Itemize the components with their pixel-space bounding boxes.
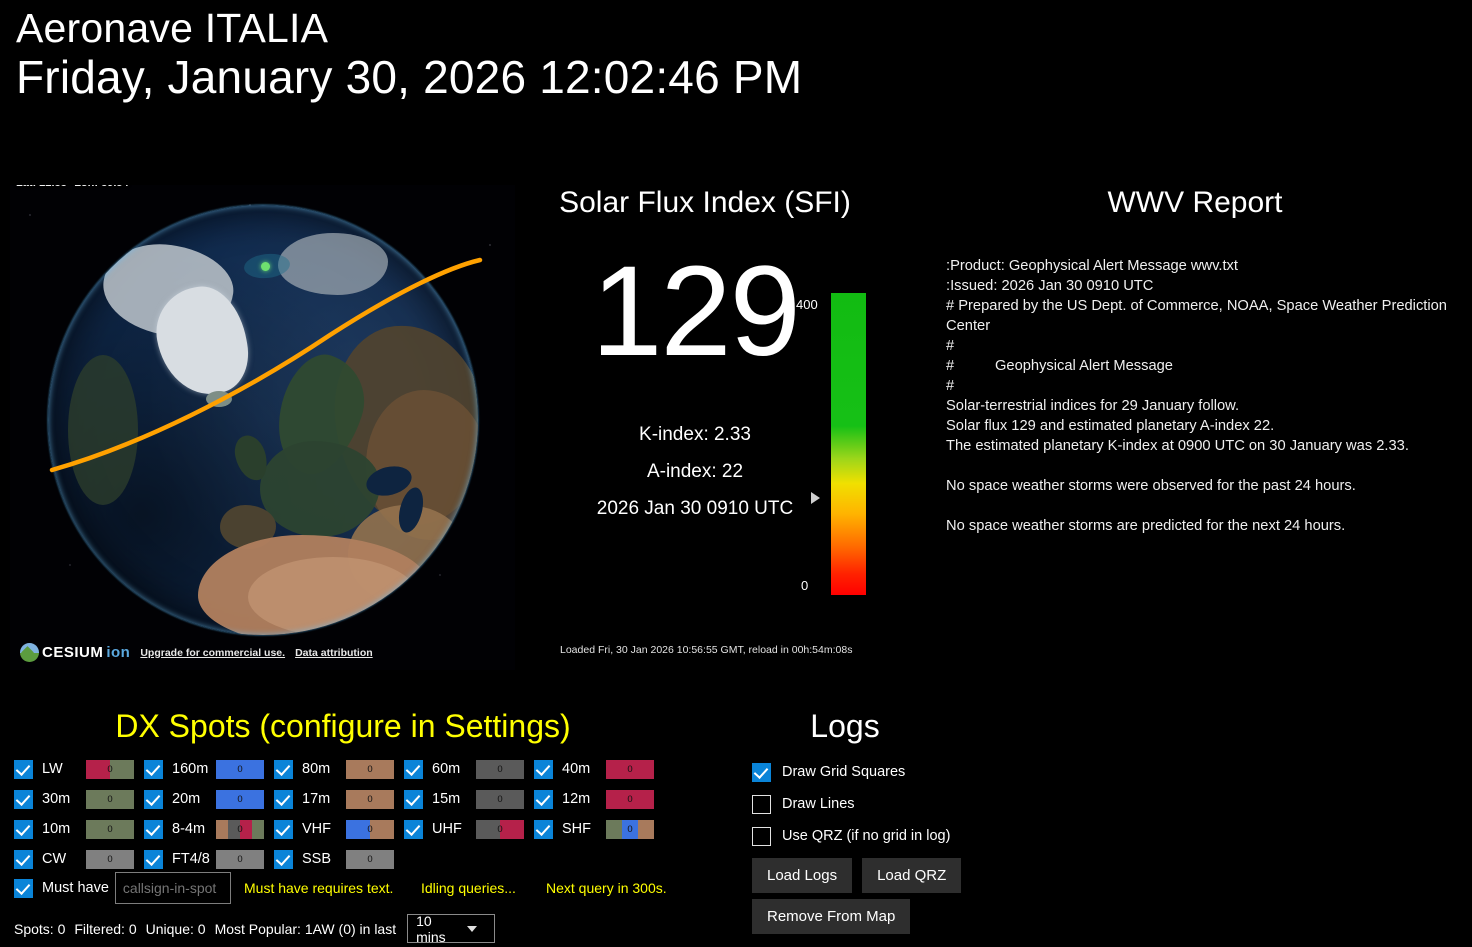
dx-band-row: CW0FT4/80SSB0 (14, 844, 684, 874)
band-count-value: 0 (237, 824, 242, 835)
loaded-status: Loaded Fri, 30 Jan 2026 10:56:55 GMT, re… (560, 644, 852, 656)
dx-band-cell: 30m0 (14, 790, 144, 809)
band-label: SHF (562, 821, 606, 837)
band-checkbox-uhf[interactable] (404, 820, 423, 839)
must-have-checkbox[interactable] (14, 879, 33, 898)
stat-most-popular: Most Popular: 1AW (0) in last (215, 921, 397, 937)
dx-band-cell: SSB0 (274, 850, 404, 869)
band-count-value: 0 (367, 824, 372, 835)
dx-band-row: LW0160m080m060m040m0 (14, 754, 684, 784)
remove-from-map-button[interactable]: Remove From Map (752, 899, 910, 934)
band-count-swatch[interactable]: 0 (346, 820, 394, 839)
band-label: FT4/8 (172, 851, 216, 867)
lat-lon-readout: Lat: 22.33° Lon: 39.54° (16, 185, 133, 189)
globe-viewer[interactable]: Lat: 22.33° Lon: 39.54° CESIUM ion Upgra… (10, 185, 515, 670)
log-option-label: Draw Lines (782, 796, 855, 812)
band-count-swatch[interactable]: 0 (86, 790, 134, 809)
band-checkbox-80m[interactable] (274, 760, 293, 779)
band-label: 20m (172, 791, 216, 807)
band-checkbox-12m[interactable] (534, 790, 553, 809)
gauge-min-label: 0 (801, 578, 808, 593)
band-checkbox-40m[interactable] (534, 760, 553, 779)
dx-band-cell: 15m0 (404, 790, 534, 809)
load-qrz-button[interactable]: Load QRZ (862, 858, 961, 893)
dx-band-cell: 8-4m0 (144, 820, 274, 839)
band-count-value: 0 (627, 764, 632, 775)
dx-band-cell: SHF0 (534, 820, 664, 839)
upgrade-commercial-link[interactable]: Upgrade for commercial use. (140, 647, 285, 659)
band-count-swatch[interactable]: 0 (216, 850, 264, 869)
band-checkbox-shf[interactable] (534, 820, 553, 839)
band-label: LW (42, 761, 86, 777)
log-option-checkbox-1[interactable] (752, 795, 771, 814)
band-checkbox-ft4-8[interactable] (144, 850, 163, 869)
data-attribution-link[interactable]: Data attribution (295, 647, 373, 659)
band-count-swatch[interactable]: 0 (216, 820, 264, 839)
logs-button-row-2: Remove From Map (752, 899, 910, 934)
app-title: Aeronave ITALIA (16, 6, 802, 50)
chevron-down-icon (467, 926, 477, 932)
must-have-input[interactable] (115, 872, 231, 904)
cesium-logo: CESIUM ion (20, 643, 130, 662)
header: Aeronave ITALIA Friday, January 30, 2026… (16, 6, 802, 105)
dx-band-grid: LW0160m080m060m040m030m020m017m015m012m0… (14, 754, 684, 874)
band-checkbox-lw[interactable] (14, 760, 33, 779)
wwv-panel-title: WWV Report (940, 186, 1450, 220)
cesium-wordmark: CESIUM (42, 644, 103, 661)
band-checkbox-160m[interactable] (144, 760, 163, 779)
stat-filtered: Filtered: 0 (74, 921, 136, 937)
logs-button-row: Load Logs Load QRZ (752, 858, 961, 893)
stat-unique: Unique: 0 (146, 921, 206, 937)
log-option-checkbox-0[interactable] (752, 763, 771, 782)
band-label: VHF (302, 821, 346, 837)
band-count-value: 0 (237, 764, 242, 775)
cesium-credit: CESIUM ion Upgrade for commercial use. D… (20, 643, 373, 662)
dx-band-cell: 60m0 (404, 760, 534, 779)
load-logs-button[interactable]: Load Logs (752, 858, 852, 893)
band-label: 17m (302, 791, 346, 807)
band-label: 10m (42, 821, 86, 837)
band-checkbox-vhf[interactable] (274, 820, 293, 839)
band-count-value: 0 (367, 794, 372, 805)
band-label: 160m (172, 761, 216, 777)
band-label: 8-4m (172, 821, 216, 837)
band-count-swatch[interactable]: 0 (606, 760, 654, 779)
log-option-label: Draw Grid Squares (782, 764, 905, 780)
gauge-pointer-icon (811, 492, 820, 504)
sfi-gauge-bar (831, 293, 866, 595)
band-count-value: 0 (107, 794, 112, 805)
band-count-swatch[interactable]: 0 (86, 820, 134, 839)
sfi-value: 129 (540, 248, 850, 376)
band-checkbox-ssb[interactable] (274, 850, 293, 869)
band-color-segment (606, 820, 622, 839)
band-checkbox-10m[interactable] (14, 820, 33, 839)
band-color-segment (500, 820, 524, 839)
band-label: SSB (302, 851, 346, 867)
band-color-segment (252, 820, 264, 839)
band-count-swatch[interactable]: 0 (476, 760, 524, 779)
k-index-readout: K-index: 2.33 (540, 424, 850, 446)
band-color-segment (216, 820, 228, 839)
band-count-swatch[interactable]: 0 (476, 820, 524, 839)
band-count-swatch[interactable]: 0 (476, 790, 524, 809)
sfi-panel-title: Solar Flux Index (SFI) (540, 186, 870, 220)
dx-band-row: 30m020m017m015m012m0 (14, 784, 684, 814)
a-index-readout: A-index: 22 (540, 461, 850, 483)
log-option-row: Draw Lines (752, 788, 950, 820)
band-count-swatch[interactable]: 0 (606, 820, 654, 839)
dx-band-cell: 20m0 (144, 790, 274, 809)
atmosphere-glow (48, 205, 478, 635)
dx-band-cell: LW0 (14, 760, 144, 779)
log-option-label: Use QRZ (if no grid in log) (782, 828, 950, 844)
band-count-swatch[interactable]: 0 (346, 760, 394, 779)
band-checkbox-15m[interactable] (404, 790, 423, 809)
band-checkbox-20m[interactable] (144, 790, 163, 809)
cesium-ion-label: ion (106, 644, 130, 661)
dx-band-cell: 17m0 (274, 790, 404, 809)
dx-band-cell: FT4/80 (144, 850, 274, 869)
wwv-report-text: :Product: Geophysical Alert Message wwv.… (946, 256, 1458, 536)
dx-band-cell: CW0 (14, 850, 144, 869)
band-label: 60m (432, 761, 476, 777)
interval-select-value: 10 mins (416, 913, 458, 945)
band-count-value: 0 (237, 854, 242, 865)
query-status: Idling queries... (421, 880, 516, 896)
stat-spots: Spots: 0 (14, 921, 65, 937)
band-count-swatch[interactable]: 0 (216, 790, 264, 809)
log-option-checkbox-2[interactable] (752, 827, 771, 846)
band-color-segment (638, 820, 654, 839)
must-have-label: Must have (42, 880, 109, 896)
dx-band-cell: 12m0 (534, 790, 664, 809)
band-label: 40m (562, 761, 606, 777)
band-count-value: 0 (237, 794, 242, 805)
band-count-value: 0 (497, 824, 502, 835)
band-color-segment (110, 760, 134, 779)
band-count-swatch[interactable]: 0 (216, 760, 264, 779)
band-count-swatch[interactable]: 0 (346, 790, 394, 809)
must-have-warning: Must have requires text. (244, 880, 393, 896)
band-count-value: 0 (107, 824, 112, 835)
band-count-value: 0 (107, 764, 112, 775)
band-count-swatch[interactable]: 0 (606, 790, 654, 809)
logs-options-list: Draw Grid SquaresDraw LinesUse QRZ (if n… (752, 756, 950, 852)
band-count-swatch[interactable]: 0 (86, 760, 134, 779)
dx-band-cell: UHF0 (404, 820, 534, 839)
current-datetime: Friday, January 30, 2026 12:02:46 PM (16, 50, 802, 104)
sfi-timestamp: 2026 Jan 30 0910 UTC (540, 498, 850, 520)
dx-band-cell: 160m0 (144, 760, 274, 779)
band-label: 12m (562, 791, 606, 807)
band-checkbox-cw[interactable] (14, 850, 33, 869)
dx-band-cell: 80m0 (274, 760, 404, 779)
gauge-max-label: 400 (796, 297, 818, 312)
dx-band-row: 10m08-4m0VHF0UHF0SHF0 (14, 814, 684, 844)
dx-band-cell: 40m0 (534, 760, 664, 779)
log-option-row: Use QRZ (if no grid in log) (752, 820, 950, 852)
band-label: 80m (302, 761, 346, 777)
log-option-row: Draw Grid Squares (752, 756, 950, 788)
band-label: UHF (432, 821, 476, 837)
next-query-countdown: Next query in 300s. (546, 880, 667, 896)
band-count-value: 0 (367, 764, 372, 775)
band-checkbox-17m[interactable] (274, 790, 293, 809)
band-count-value: 0 (627, 824, 632, 835)
app-root: Aeronave ITALIA Friday, January 30, 2026… (0, 0, 1472, 947)
must-have-row: Must have (14, 872, 231, 904)
dx-band-cell: 10m0 (14, 820, 144, 839)
band-checkbox-30m[interactable] (14, 790, 33, 809)
earth-sphere (48, 205, 478, 635)
band-checkbox-8-4m[interactable] (144, 820, 163, 839)
dx-band-cell: VHF0 (274, 820, 404, 839)
band-label: 15m (432, 791, 476, 807)
band-label: 30m (42, 791, 86, 807)
band-label: CW (42, 851, 86, 867)
cesium-mark-icon (20, 643, 39, 662)
dx-spots-title: DX Spots (configure in Settings) (0, 708, 686, 745)
band-count-value: 0 (367, 854, 372, 865)
band-count-swatch[interactable]: 0 (346, 850, 394, 869)
logs-panel-title: Logs (700, 708, 990, 745)
band-count-value: 0 (497, 764, 502, 775)
band-checkbox-60m[interactable] (404, 760, 423, 779)
band-count-value: 0 (107, 854, 112, 865)
band-count-value: 0 (627, 794, 632, 805)
interval-select[interactable]: 10 mins (407, 914, 495, 943)
dx-stats-row: Spots: 0 Filtered: 0 Unique: 0 Most Popu… (14, 914, 504, 943)
band-color-segment (370, 820, 394, 839)
band-count-value: 0 (497, 794, 502, 805)
band-count-swatch[interactable]: 0 (86, 850, 134, 869)
